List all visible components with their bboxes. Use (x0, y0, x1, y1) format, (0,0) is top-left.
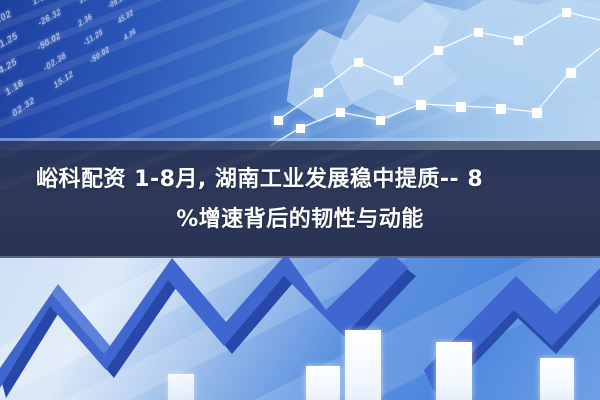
top-background: 21.1545.02-02.36-50.02 4.36-11.25-09.354… (0, 0, 600, 150)
bar-chart-bar (436, 342, 472, 400)
page-title-line-2: %增速背后的韧性与动能 (176, 200, 424, 240)
page-title-line-1: 峪科配资 1-8月, 湖南工业发展稳中提质-- 8 (36, 160, 483, 200)
line-chart-nodes (274, 8, 576, 133)
bar-chart-bar (168, 374, 194, 400)
banner-image: 21.1545.02-02.36-50.02 4.36-11.25-09.354… (0, 0, 600, 400)
title-container: 峪科配资 1-8月, 湖南工业发展稳中提质-- 8 %增速背后的韧性与动能 (0, 141, 600, 258)
zigzag-arrow-graphic (0, 258, 600, 400)
bar-chart-bar (306, 366, 340, 400)
bottom-background (0, 258, 600, 400)
bar-chart-bar (345, 330, 381, 400)
glowing-line-chart (270, 0, 600, 150)
bar-chart-bar (540, 358, 574, 400)
